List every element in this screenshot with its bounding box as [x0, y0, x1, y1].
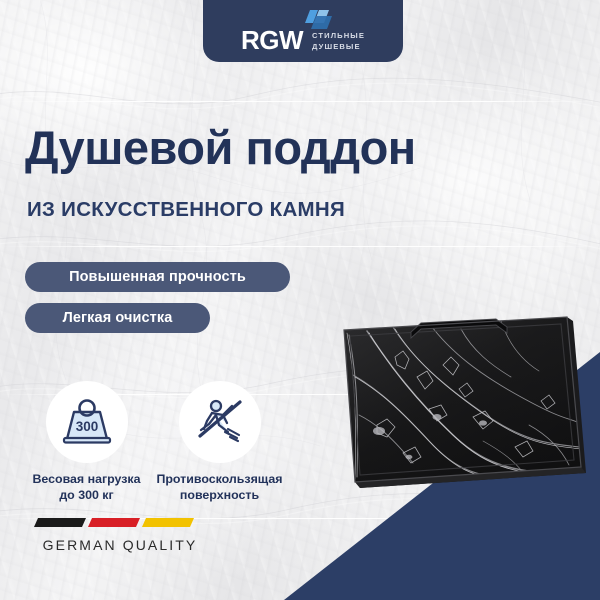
brand-tagline: СТИЛЬНЫЕ ДУШЕВЫЕ: [312, 28, 365, 52]
benefit-weight-label: Весовая нагрузка до 300 кг: [19, 472, 154, 503]
benefit-weight-label-line2: до 300 кг: [19, 488, 154, 504]
brand-tagline-line2: ДУШЕВЫЕ: [312, 42, 365, 52]
benefit-anti-slip-label: Противоскользящая поверхность: [152, 472, 287, 503]
rgw-mark-icon: [299, 10, 339, 29]
brand-tagline-line1: СТИЛЬНЫЕ: [312, 31, 365, 41]
german-flag-icon: [30, 516, 198, 529]
poster-canvas: RGW СТИЛЬНЫЕ ДУШЕВЫЕ Душевой поддон ИЗ И…: [0, 0, 600, 600]
anti-slip-icon: [192, 396, 248, 448]
feature-pill-easy-clean[interactable]: Легкая очистка: [25, 303, 210, 333]
benefit-weight-load: 300 Весовая нагрузка до 300 кг: [19, 381, 154, 503]
page-title: Душевой поддон: [25, 124, 416, 171]
german-quality-text: GERMAN QUALITY: [30, 537, 210, 553]
weight-300kg-icon: 300: [59, 396, 115, 448]
benefit-anti-slip-label-line2: поверхность: [152, 488, 287, 504]
weight-value-text: 300: [75, 419, 98, 434]
german-quality-badge: GERMAN QUALITY: [30, 516, 210, 553]
page-subtitle: ИЗ ИСКУССТВЕННОГО КАМНЯ: [27, 200, 345, 221]
corner-wedge: [0, 0, 600, 600]
benefit-weight-label-line1: Весовая нагрузка: [19, 472, 154, 488]
product-image-shower-tray[interactable]: [333, 305, 586, 495]
benefit-anti-slip-circle: [179, 381, 261, 463]
benefit-weight-circle: 300: [46, 381, 128, 463]
brand-wordmark: RGW: [241, 27, 303, 53]
benefit-anti-slip: Противоскользящая поверхность: [152, 381, 287, 503]
feature-pill-durability[interactable]: Повышенная прочность: [25, 262, 290, 292]
brand-logo-pill[interactable]: RGW СТИЛЬНЫЕ ДУШЕВЫЕ: [203, 0, 403, 62]
benefit-anti-slip-label-line1: Противоскользящая: [152, 472, 287, 488]
